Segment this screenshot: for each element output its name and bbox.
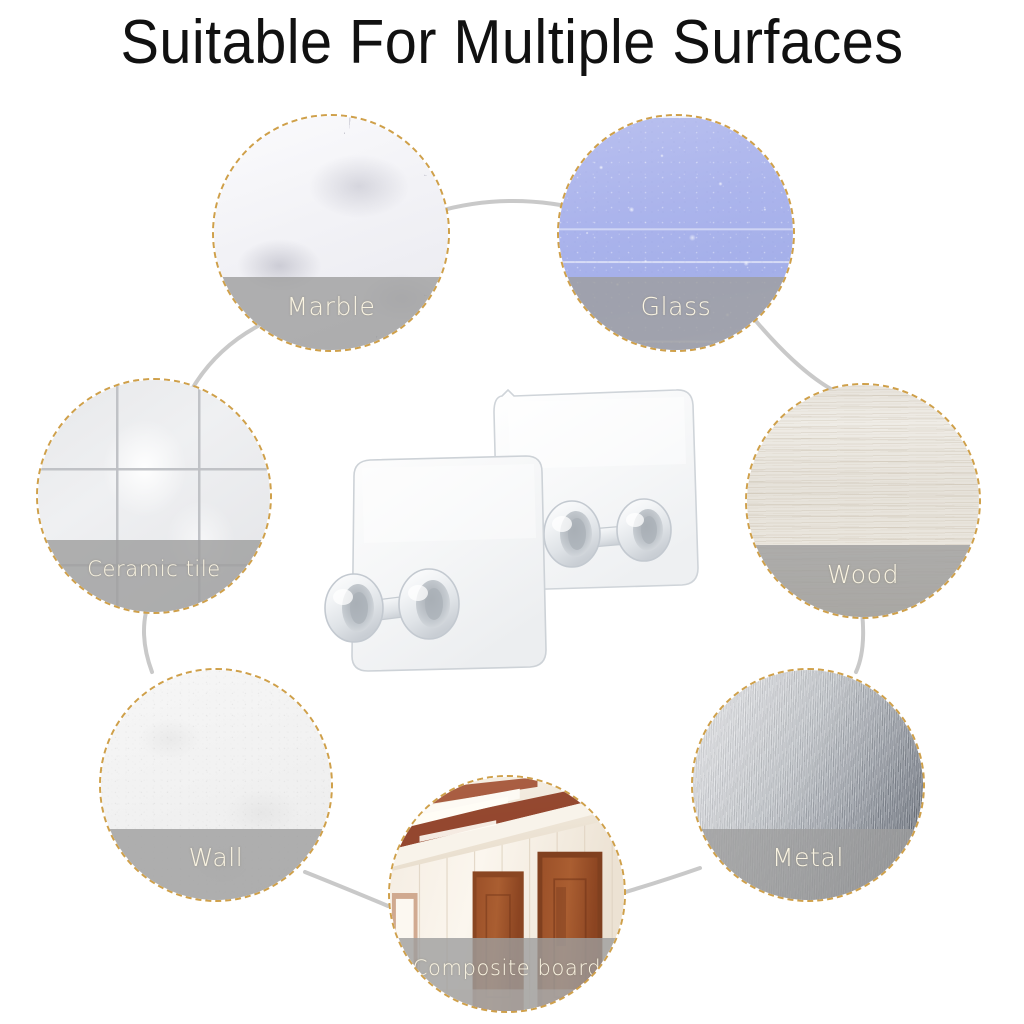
glass-label-band: Glass bbox=[559, 277, 793, 350]
marble-label-band: Marble bbox=[214, 277, 448, 350]
composite-board-label: Composite board bbox=[413, 956, 601, 980]
composite-board-label-band: Composite board bbox=[390, 938, 624, 1011]
surface-circle-composite-board[interactable]: Composite board bbox=[388, 775, 626, 1013]
wood-label-band: Wood bbox=[747, 545, 979, 617]
surface-circle-wall[interactable]: Wall bbox=[99, 668, 333, 902]
glass-label: Glass bbox=[641, 292, 712, 321]
product-image-adhesive-hooks bbox=[312, 368, 712, 720]
surface-circle-ceramic-tile[interactable]: Ceramic tile bbox=[36, 378, 272, 614]
page-title: Suitable For Multiple Surfaces bbox=[36, 8, 988, 78]
infographic-canvas: Suitable For Multiple Surfaces bbox=[0, 0, 1024, 1024]
wood-label: Wood bbox=[827, 560, 899, 589]
surface-circle-wood[interactable]: Wood bbox=[745, 383, 981, 619]
surface-circle-marble[interactable]: Marble bbox=[212, 114, 450, 352]
metal-label-band: Metal bbox=[693, 829, 923, 900]
wall-label-band: Wall bbox=[101, 829, 331, 900]
ceramic-tile-label-band: Ceramic tile bbox=[38, 540, 270, 612]
metal-label: Metal bbox=[772, 843, 844, 872]
surface-circle-metal[interactable]: Metal bbox=[691, 668, 925, 902]
wall-label: Wall bbox=[189, 843, 244, 872]
surface-circle-glass[interactable]: Glass bbox=[557, 114, 795, 352]
marble-label: Marble bbox=[287, 292, 376, 321]
ceramic-tile-label: Ceramic tile bbox=[87, 557, 221, 581]
